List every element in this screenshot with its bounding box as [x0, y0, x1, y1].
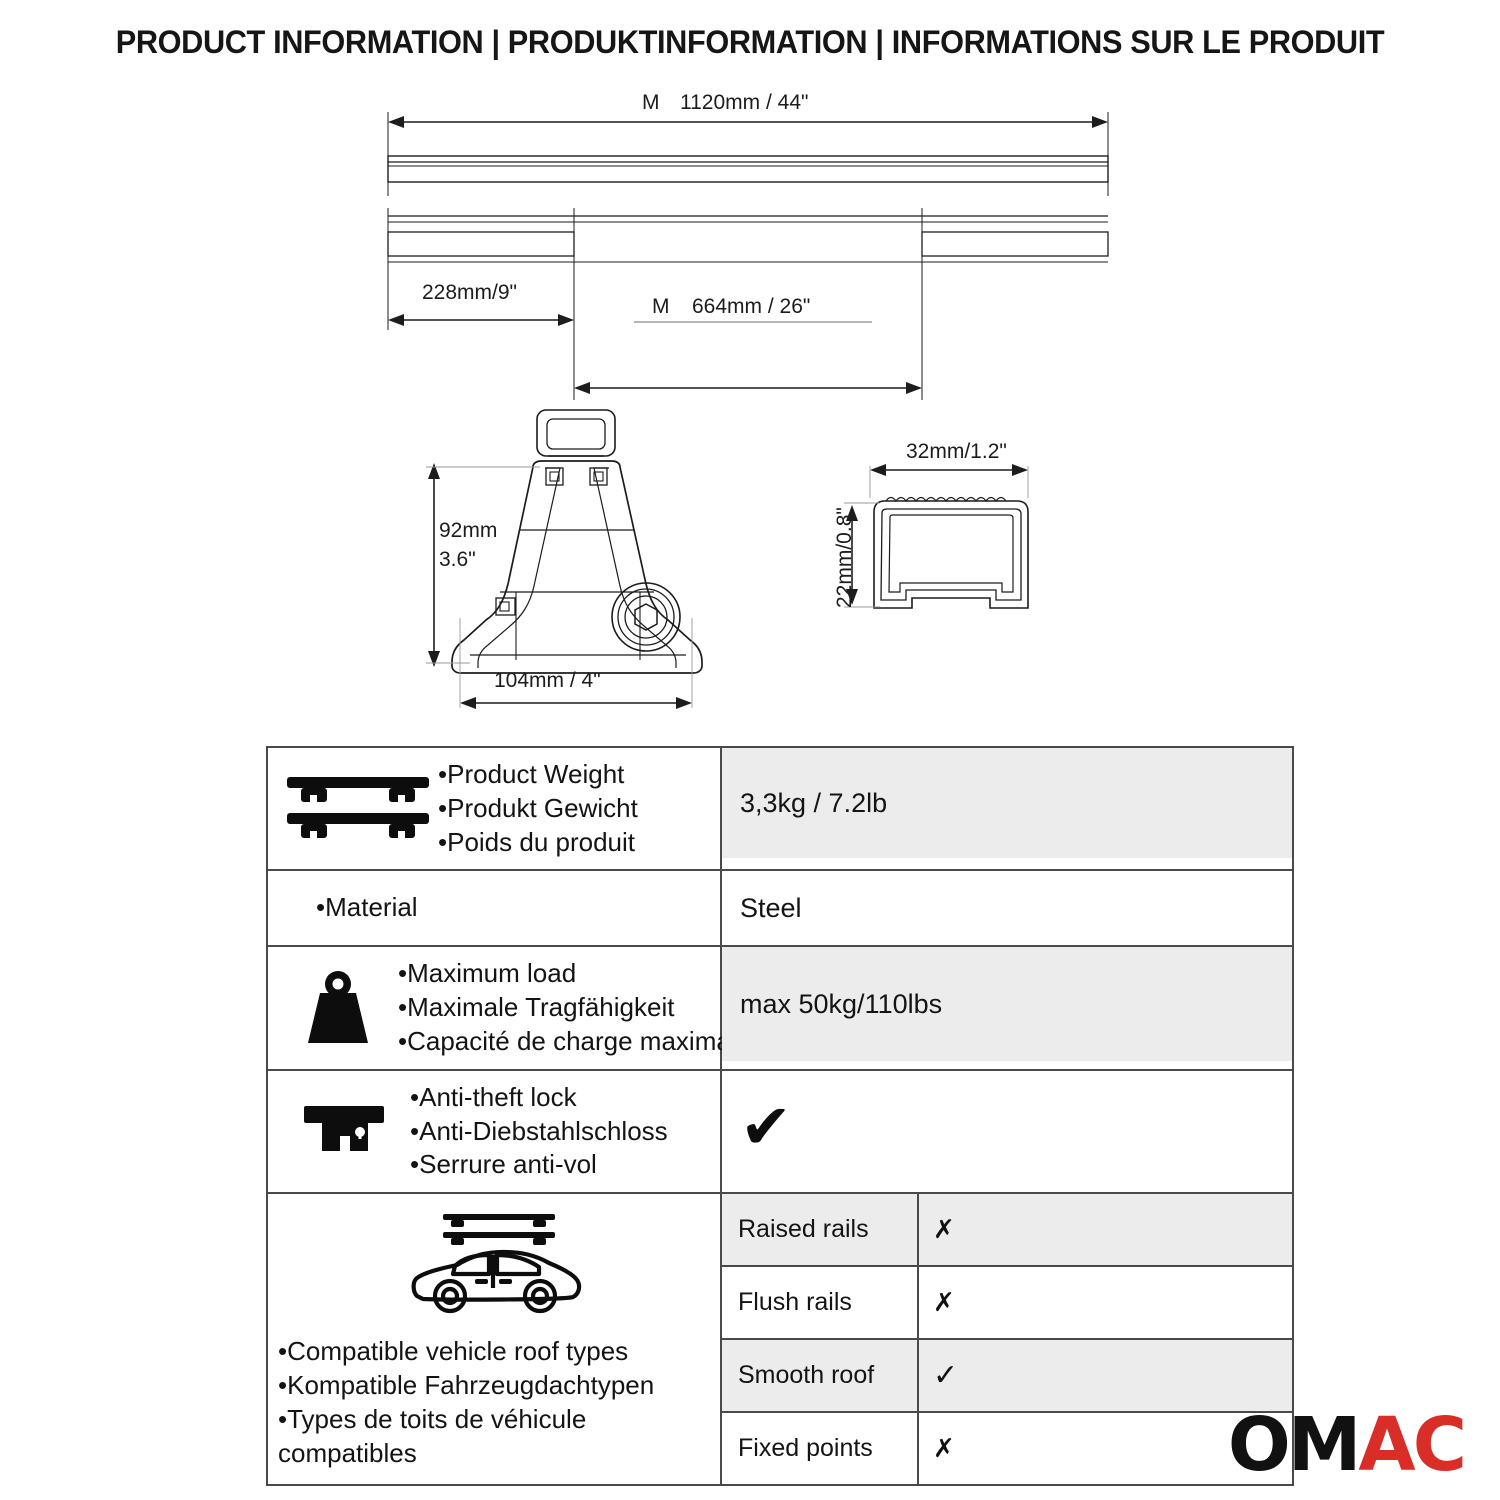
label-line: •Poids du produit: [438, 826, 638, 860]
row-value: 3,3kg / 7.2lb: [722, 748, 1292, 858]
roof-type-name: Flush rails: [722, 1267, 919, 1338]
cross-icon: ✗: [933, 1433, 955, 1464]
label-line: •Kompatible Fahrzeugdachtypen: [278, 1369, 710, 1403]
crossbars-icon-svg: [283, 773, 433, 845]
specification-table: •Product Weight •Produkt Gewicht •Poids …: [266, 746, 1294, 1486]
row-labels: •Anti-theft lock •Anti-Diebstahlschloss …: [410, 1081, 668, 1182]
dim-end-offset: 228mm/9": [422, 281, 517, 305]
row-label-cell: •Material: [268, 871, 722, 945]
dim-profile-height: 22mm/0.8": [833, 507, 857, 608]
row-label-cell: •Product Weight •Produkt Gewicht •Poids …: [268, 748, 722, 869]
roof-type-row: Flush rails ✗: [722, 1267, 1292, 1340]
roof-type-value: ✗: [919, 1267, 1292, 1338]
label-line: •Types de toits de véhicule compatibles: [278, 1403, 710, 1471]
label-line: •Serrure anti-vol: [410, 1148, 668, 1182]
roof-type-row: Fixed points ✗: [722, 1413, 1292, 1484]
row-label-cell: •Anti-theft lock •Anti-Diebstahlschloss …: [268, 1071, 722, 1192]
roof-type-row: Smooth roof ✓: [722, 1340, 1292, 1413]
table-row: •Maximum load •Maximale Tragfähigkeit •C…: [268, 947, 1292, 1070]
row-label-cell: •Maximum load •Maximale Tragfähigkeit •C…: [268, 947, 722, 1068]
roof-type-value: ✗: [919, 1194, 1292, 1265]
check-icon: ✓: [933, 1358, 958, 1393]
label-line: •Produkt Gewicht: [438, 792, 638, 826]
roof-type-value: ✓: [919, 1340, 1292, 1411]
lock-icon: [278, 1102, 410, 1160]
car-with-roofbars-icon-svg: [403, 1208, 585, 1324]
row-value: max 50kg/110lbs: [722, 947, 1292, 1061]
omac-logo: OMAC: [1228, 1408, 1464, 1482]
label-line: •Material: [316, 891, 418, 925]
crossbars-icon: [278, 773, 438, 845]
label-line: •Capacité de charge maximale: [398, 1025, 751, 1059]
cross-icon: ✗: [933, 1214, 955, 1245]
lock-icon-svg: [298, 1102, 390, 1160]
product-information-sheet: PRODUCT INFORMATION | PRODUKTINFORMATION…: [0, 0, 1500, 1500]
label-line: •Anti-Diebstahlschloss: [410, 1115, 668, 1149]
row-labels: •Maximum load •Maximale Tragfähigkeit •C…: [398, 957, 751, 1058]
roof-compatibility-row: •Compatible vehicle roof types •Kompatib…: [268, 1194, 1292, 1484]
dim-foot-height-line2: 3.6": [439, 548, 476, 572]
row-value-cell: ✔: [722, 1071, 1292, 1183]
label-line: •Anti-theft lock: [410, 1081, 668, 1115]
roof-type-name: Fixed points: [722, 1413, 919, 1484]
roof-types-subtable: Raised rails ✗ Flush rails ✗ Smooth roof…: [722, 1194, 1292, 1484]
roof-type-name: Smooth roof: [722, 1340, 919, 1411]
table-row: •Material Steel: [268, 871, 1292, 947]
row-labels: •Material: [278, 891, 418, 925]
dim-bar-length-prefix: M: [642, 91, 660, 115]
row-labels: •Product Weight •Produkt Gewicht •Poids …: [438, 758, 638, 859]
table-row: •Anti-theft lock •Anti-Diebstahlschloss …: [268, 1071, 1292, 1194]
dim-span-prefix: M: [652, 295, 670, 319]
cross-icon: ✗: [933, 1287, 955, 1318]
dim-foot-width: 104mm / 4": [494, 669, 601, 693]
label-line: •Maximale Tragfähigkeit: [398, 991, 751, 1025]
logo-text-om: OM: [1228, 1402, 1359, 1488]
car-with-roofbars-icon: [403, 1208, 585, 1329]
technical-drawing-area: M 1120mm / 44" 228mm/9" M 664mm / 26" 92…: [0, 0, 1500, 740]
roof-type-row: Raised rails ✗: [722, 1194, 1292, 1267]
dim-bar-length: 1120mm / 44": [680, 91, 808, 115]
weight-icon: [278, 969, 398, 1047]
dim-foot-height-line1: 92mm: [439, 519, 497, 543]
roof-label-cell: •Compatible vehicle roof types •Kompatib…: [268, 1194, 722, 1484]
dim-span: 664mm / 26": [692, 295, 810, 319]
label-line: •Product Weight: [438, 758, 638, 792]
logo-text-ac: AC: [1358, 1402, 1464, 1488]
checkmark-icon: ✔: [740, 1096, 792, 1158]
table-row: •Product Weight •Produkt Gewicht •Poids …: [268, 748, 1292, 871]
roof-type-name: Raised rails: [722, 1194, 919, 1265]
label-line: •Compatible vehicle roof types: [278, 1335, 710, 1369]
roof-labels: •Compatible vehicle roof types •Kompatib…: [278, 1335, 710, 1470]
dim-profile-width: 32mm/1.2": [906, 440, 1007, 464]
label-line: •Maximum load: [398, 957, 751, 991]
weight-icon-svg: [302, 969, 374, 1047]
row-value: Steel: [722, 871, 1292, 945]
